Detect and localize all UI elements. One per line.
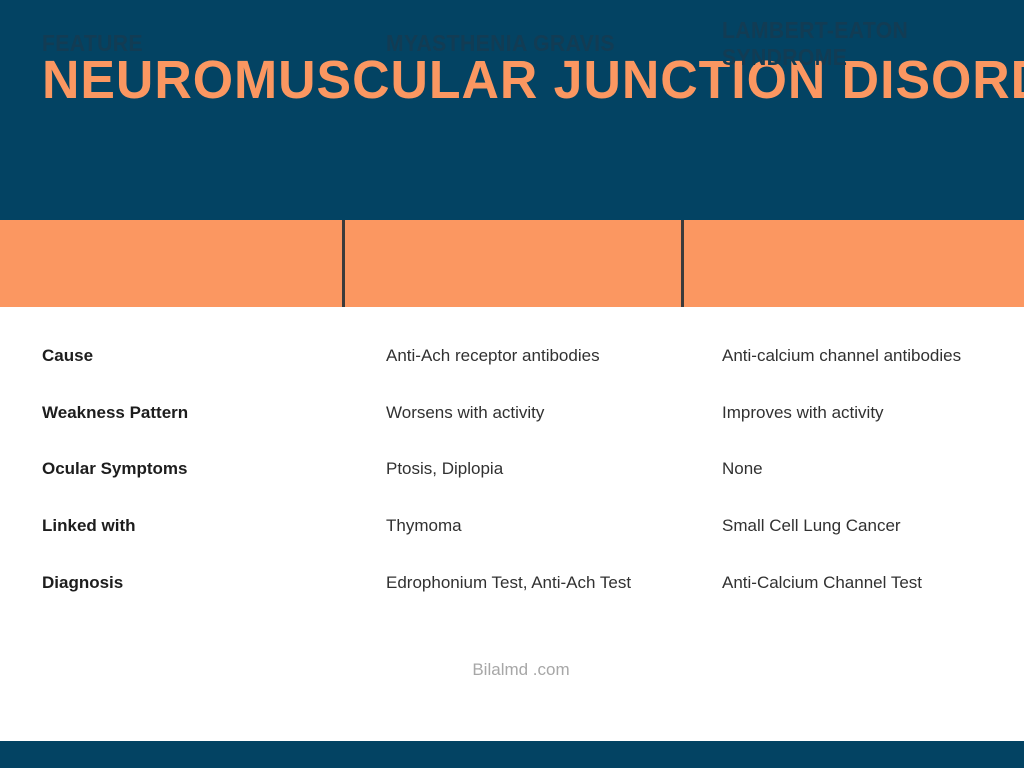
slide-canvas: NEUROMUSCULAR JUNCTION DISORDERS FEATURE…: [0, 0, 1024, 768]
row-myasthenia-gravis-value: Thymoma: [386, 511, 656, 541]
row-lambert-eaton-value: Anti-calcium channel antibodies: [722, 341, 1017, 371]
row-myasthenia-gravis-value: Edrophonium Test, Anti-Ach Test: [386, 568, 656, 598]
column-header-feature-line1: FEATURE: [42, 30, 309, 57]
row-feature-label: Cause: [42, 341, 322, 371]
column-divider-2-header-segment: [681, 220, 684, 307]
row-myasthenia-gravis-value: Ptosis, Diplopia: [386, 454, 656, 484]
row-feature-label: Weakness Pattern: [42, 398, 322, 428]
row-myasthenia-gravis-value: Anti-Ach receptor antibodies: [386, 341, 656, 371]
column-header-myasthenia-gravis-line1: MYASTHENIA GRAVIS: [386, 30, 644, 57]
row-feature-label: Linked with: [42, 511, 322, 541]
row-lambert-eaton-value: Improves with activity: [722, 398, 1017, 428]
column-header-myasthenia-gravis: MYASTHENIA GRAVIS: [386, 0, 666, 87]
column-header-lambert-eaton-line2: SYNDROME: [722, 44, 989, 71]
row-lambert-eaton-value: Small Cell Lung Cancer: [722, 511, 1017, 541]
row-lambert-eaton-value: None: [722, 454, 1017, 484]
footer-bar: [0, 741, 1024, 768]
column-divider-1-header-segment: [342, 220, 345, 307]
row-myasthenia-gravis-value: Worsens with activity: [386, 398, 656, 428]
row-lambert-eaton-value: Anti-Calcium Channel Test: [722, 568, 1017, 598]
column-header-feature: FEATURE: [42, 0, 332, 87]
row-feature-label: Diagnosis: [42, 568, 322, 598]
column-header-lambert-eaton: LAMBERT-EATON SYNDROME: [722, 0, 1012, 87]
column-header-lambert-eaton-line1: LAMBERT-EATON: [722, 17, 989, 44]
table-header-band: [0, 220, 1024, 307]
watermark-text: Bilalmd .com: [386, 660, 656, 680]
row-feature-label: Ocular Symptoms: [42, 454, 322, 484]
